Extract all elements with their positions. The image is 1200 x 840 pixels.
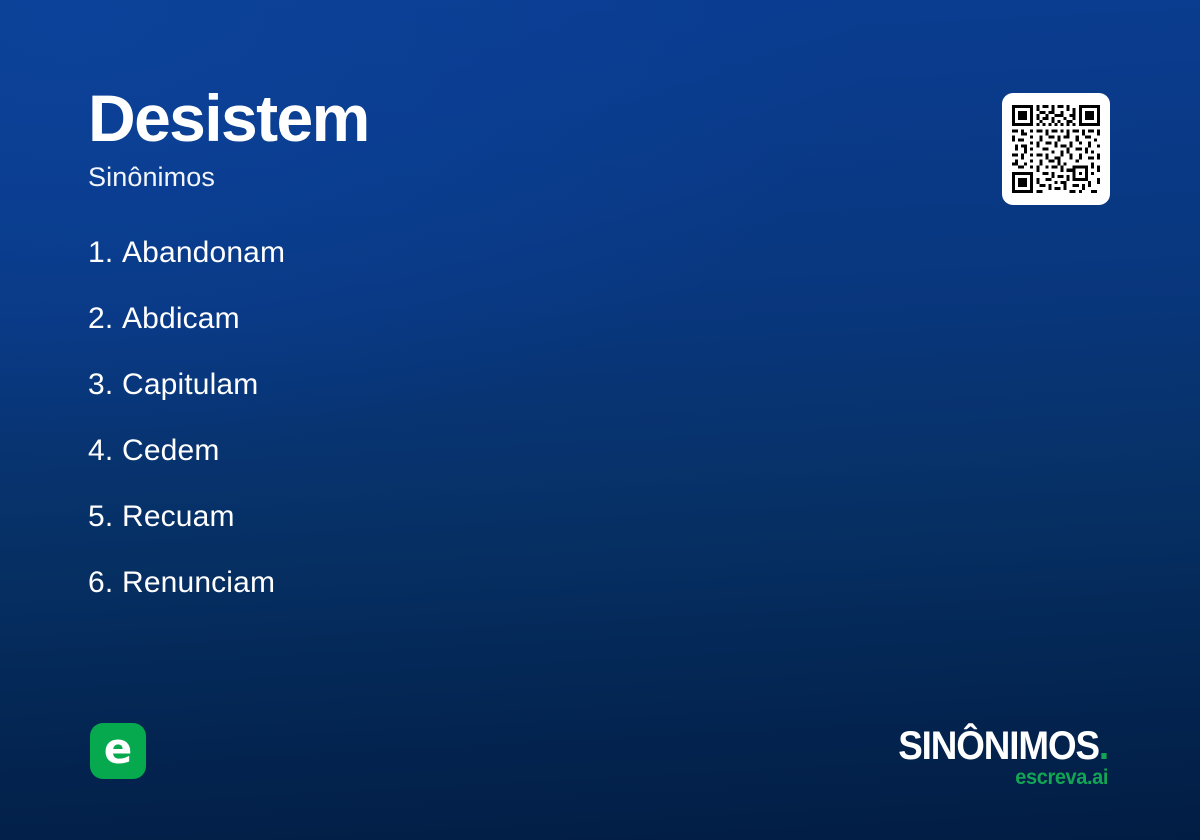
list-item-index: 4.: [88, 434, 122, 468]
qr-code-panel[interactable]: [1002, 93, 1110, 205]
list-item: 6. Renunciam: [88, 566, 285, 632]
list-item-word: Renunciam: [122, 566, 275, 600]
list-item-word: Abdicam: [122, 302, 240, 336]
synonym-card: Desistem Sinônimos: [0, 0, 1200, 840]
brand-name-text: SINÔNIMOS: [898, 724, 1099, 768]
list-item-index: 2.: [88, 302, 122, 336]
brand-tagline: escreva.ai: [891, 767, 1108, 788]
list-item-word: Abandonam: [122, 236, 285, 270]
list-item: 4. Cedem: [88, 434, 285, 500]
page-title: Desistem: [88, 84, 369, 154]
list-item: 3. Capitulam: [88, 368, 285, 434]
brand-logo: SINÔNIMOS. escreva.ai: [880, 726, 1108, 788]
list-item-index: 5.: [88, 500, 122, 534]
escreva-e-badge-icon[interactable]: e: [90, 723, 146, 779]
list-item-index: 6.: [88, 566, 122, 600]
list-item-word: Capitulam: [122, 368, 258, 402]
list-item: 1. Abandonam: [88, 236, 285, 302]
list-item: 5. Recuam: [88, 500, 285, 566]
list-item: 2. Abdicam: [88, 302, 285, 368]
list-item-index: 3.: [88, 368, 122, 402]
qr-code-icon: [1012, 105, 1100, 193]
synonyms-list: 1. Abandonam 2. Abdicam 3. Capitulam 4. …: [88, 236, 285, 632]
list-item-word: Cedem: [122, 434, 219, 468]
list-item-index: 1.: [88, 236, 122, 270]
brand-name-dot: .: [1099, 724, 1108, 768]
brand-name: SINÔNIMOS.: [898, 726, 1108, 766]
page-subtitle: Sinônimos: [88, 163, 369, 193]
card-header: Desistem Sinônimos: [88, 84, 369, 193]
list-item-word: Recuam: [122, 500, 235, 534]
e-badge-letter: e: [104, 728, 133, 770]
